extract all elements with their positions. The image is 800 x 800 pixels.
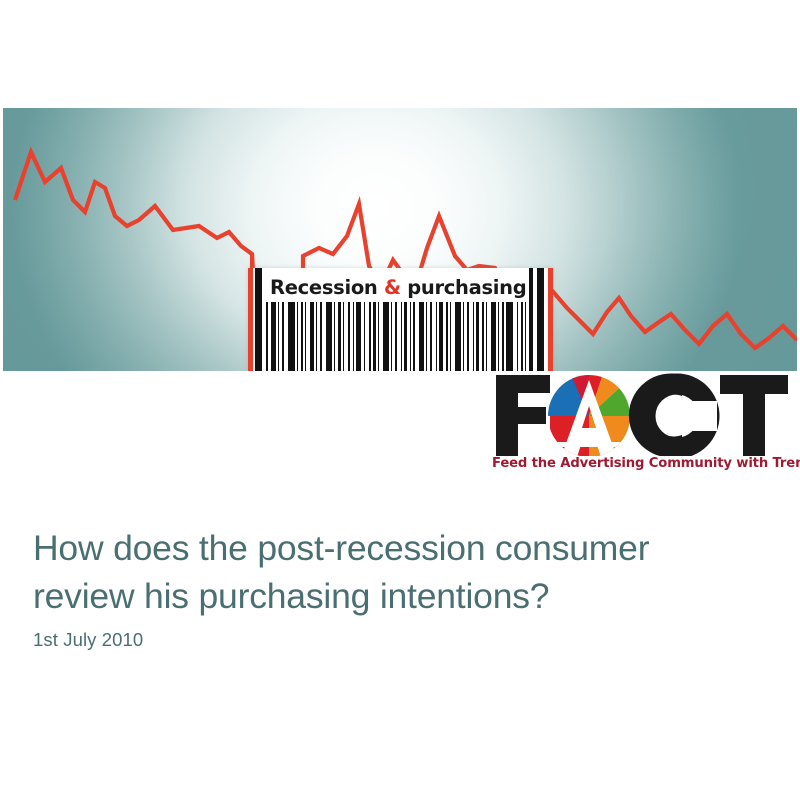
barcode-bar	[373, 302, 376, 371]
logo-a-base-gap	[548, 442, 634, 447]
barcode-bar	[455, 302, 461, 371]
barcode-bar	[430, 302, 432, 371]
barcode-bar	[446, 302, 448, 371]
barcode-bar	[426, 302, 427, 371]
barcode-bar	[521, 302, 523, 371]
barcode-guard-bar-left	[255, 268, 262, 371]
barcode-red-bar-right	[548, 268, 553, 371]
barcode-bar	[301, 302, 303, 371]
barcode-bar	[517, 302, 518, 371]
publication-date: 1st July 2010	[33, 629, 143, 651]
barcode-bar	[463, 302, 464, 371]
barcode-bar	[343, 302, 344, 371]
barcode-bar	[278, 302, 279, 371]
barcode-bar	[450, 302, 451, 371]
trend-line-left	[15, 152, 255, 308]
barcode-bar	[491, 302, 496, 371]
barcode-title-text: Recession & purchasing intention	[270, 274, 527, 301]
barcode-bar	[391, 302, 392, 371]
barcode-guard-bar-right	[537, 268, 544, 371]
barcode-bars	[266, 302, 529, 371]
barcode-bar	[476, 302, 479, 371]
barcode-bar	[364, 302, 365, 371]
barcode-bar	[486, 302, 487, 371]
fact-logo-lettermark	[492, 372, 788, 456]
barcode-bar	[288, 302, 295, 371]
barcode-title-before: Recession	[270, 276, 384, 299]
barcode-bar	[316, 302, 317, 371]
barcode-bar	[271, 302, 276, 371]
barcode-bar	[266, 302, 268, 371]
barcode-bar	[413, 302, 415, 371]
barcode-bar	[410, 302, 411, 371]
logo-letter-c-mouth	[677, 401, 717, 431]
logo-letter-t	[720, 375, 788, 456]
barcode-bar	[482, 302, 484, 371]
barcode-bar	[305, 302, 306, 371]
page-title-line-1: How does the post-recession consumer	[33, 528, 649, 568]
barcode-bar	[353, 302, 354, 371]
barcode-red-bar-left	[248, 268, 253, 371]
barcode-bar	[395, 302, 397, 371]
barcode-bar	[439, 302, 443, 371]
barcode-graphic: Recession & purchasing intention	[248, 268, 553, 371]
barcode-bar	[310, 302, 314, 371]
slide-root: Recession & purchasing intention	[0, 0, 800, 800]
logo-letter-f	[496, 375, 550, 456]
barcode-bar	[338, 302, 341, 371]
barcode-bar	[506, 302, 513, 371]
barcode-bar	[404, 302, 407, 371]
barcode-bar	[348, 302, 350, 371]
page-title-line-2: review his purchasing intentions?	[33, 572, 763, 620]
barcode-bar	[525, 302, 526, 371]
barcode-bar	[436, 302, 437, 371]
barcode-bar	[498, 302, 499, 371]
barcode-bar	[401, 302, 402, 371]
fact-logo-tagline: Feed the Advertising Community with Tren…	[492, 456, 788, 471]
barcode-guard-bar-right-thin	[529, 268, 533, 371]
barcode-bar	[378, 302, 379, 371]
barcode-bar	[356, 302, 361, 371]
barcode-bar	[326, 302, 332, 371]
barcode-bar	[502, 302, 504, 371]
barcode-bar	[467, 302, 469, 371]
barcode-bar	[473, 302, 474, 371]
barcode-bar	[282, 302, 284, 371]
fact-logo: Feed the Advertising Community with Tren…	[492, 372, 788, 476]
barcode-bar	[419, 302, 424, 371]
barcode-bar	[369, 302, 371, 371]
barcode-bar	[320, 302, 322, 371]
barcode-title-ampersand: &	[384, 276, 401, 299]
page-title: How does the post-recession consumer rev…	[33, 524, 763, 620]
barcode-bar	[334, 302, 335, 371]
barcode-title-after: purchasing intention	[401, 276, 527, 299]
logo-letter-a-colorwheel	[548, 372, 634, 456]
title-banner-image: Recession & purchasing intention	[3, 108, 797, 371]
barcode-bar	[297, 302, 298, 371]
barcode-bar	[383, 302, 389, 371]
